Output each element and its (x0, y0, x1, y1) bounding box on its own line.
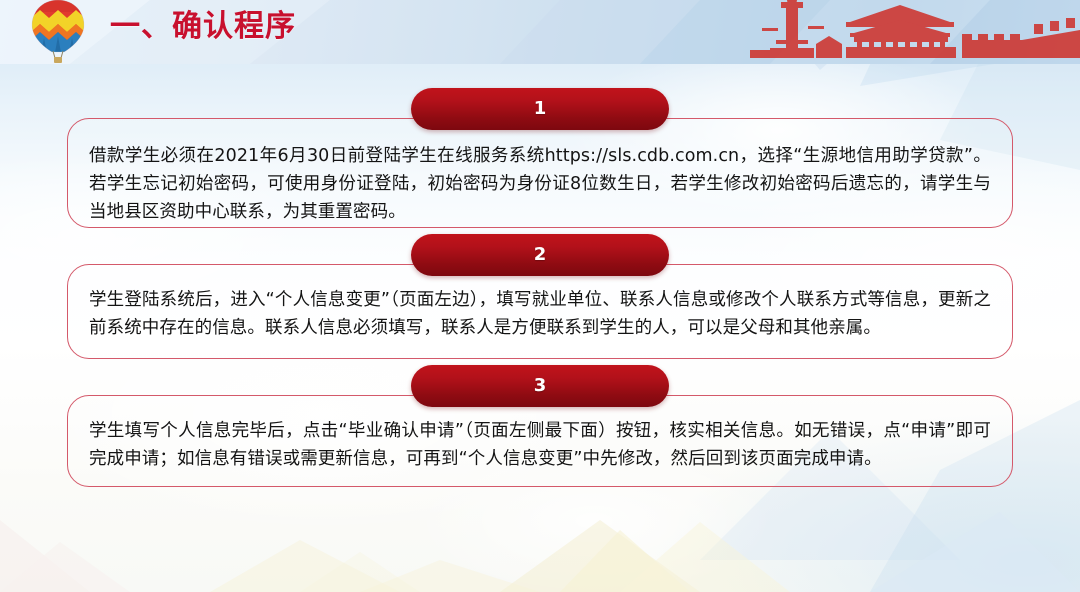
step-number-badge: 1 (411, 88, 669, 130)
tiananmen-monument-icon (750, 0, 1080, 58)
step-list: 1 借款学生必须在2021年6月30日前登陆学生在线服务系统https://sl… (0, 88, 1080, 493)
step-number-badge: 3 (411, 365, 669, 407)
step-block: 1 借款学生必须在2021年6月30日前登陆学生在线服务系统https://sl… (67, 88, 1013, 234)
presentation-slide: 一、确认程序 1 借款学生必须在2021年6月30日前登陆学生在线服务系统htt… (0, 0, 1080, 592)
step-number-badge: 2 (411, 234, 669, 276)
step-text: 学生填写个人信息完毕后，点击“毕业确认申请”（页面左侧最下面）按钮，核实相关信息… (89, 417, 991, 473)
step-block: 3 学生填写个人信息完毕后，点击“毕业确认申请”（页面左侧最下面）按钮，核实相关… (67, 365, 1013, 493)
step-number-label: 3 (534, 377, 547, 395)
page-title-text: 一、确认程序 (110, 8, 350, 46)
slide-header: 一、确认程序 (0, 0, 1080, 64)
step-text: 借款学生必须在2021年6月30日前登陆学生在线服务系统https://sls.… (89, 142, 991, 226)
step-block: 2 学生登陆系统后，进入“个人信息变更”（页面左边），填写就业单位、联系人信息或… (67, 234, 1013, 365)
step-text: 学生登陆系统后，进入“个人信息变更”（页面左边），填写就业单位、联系人信息或修改… (89, 286, 991, 342)
page-title: 一、确认程序 (110, 8, 350, 46)
bottom-decoration (0, 482, 1080, 592)
step-number-label: 1 (534, 100, 547, 118)
hot-air-balloon-icon (22, 0, 94, 64)
step-number-label: 2 (534, 246, 547, 264)
